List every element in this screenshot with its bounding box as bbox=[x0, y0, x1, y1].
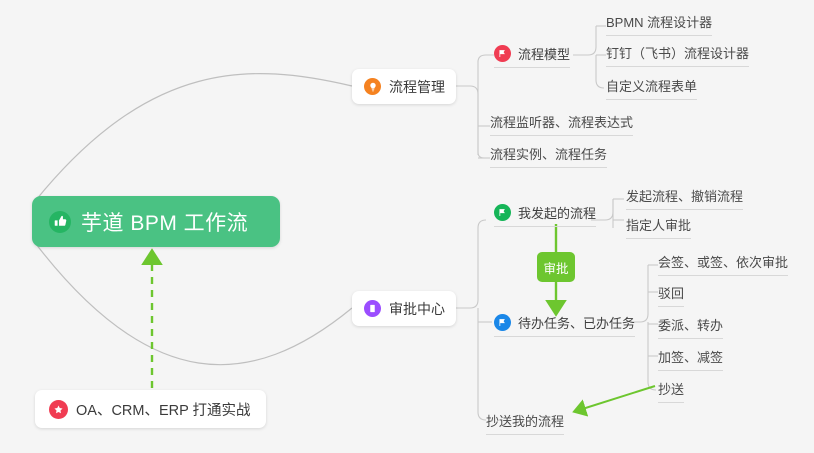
leaf-custom-form[interactable]: 自定义流程表单 bbox=[606, 76, 697, 100]
leaf-instance-task[interactable]: 流程实例、流程任务 bbox=[490, 144, 607, 168]
star-icon bbox=[49, 400, 68, 419]
subhead-process-model[interactable]: 流程模型 bbox=[494, 44, 570, 68]
edge-approval-center-spine-up bbox=[456, 220, 486, 308]
flag-icon bbox=[494, 45, 511, 62]
leaf-designated-approver[interactable]: 指定人审批 bbox=[626, 215, 691, 239]
edge-process-management-spine bbox=[456, 86, 478, 155]
flag-icon bbox=[494, 314, 511, 331]
edge-approval-center-spine-down bbox=[478, 308, 486, 420]
subhead-label-process-model: 流程模型 bbox=[518, 44, 570, 63]
edge-todo-spine-down bbox=[648, 322, 656, 390]
leaf-countersign[interactable]: 会签、或签、依次审批 bbox=[658, 252, 788, 276]
leaf-listener-expression[interactable]: 流程监听器、流程表达式 bbox=[490, 112, 633, 136]
leaf-bpmn-designer[interactable]: BPMN 流程设计器 bbox=[606, 12, 712, 36]
leaf-dingtalk-designer[interactable]: 钉钉（飞书）流程设计器 bbox=[606, 43, 749, 67]
branch-label-approval-center: 审批中心 bbox=[389, 299, 445, 319]
footer-node-integration[interactable]: OA、CRM、ERP 打通实战 bbox=[35, 390, 266, 428]
subhead-label-todo-done-tasks: 待办任务、已办任务 bbox=[518, 313, 635, 332]
footer-node-label: OA、CRM、ERP 打通实战 bbox=[76, 399, 251, 420]
leaf-cc[interactable]: 抄送 bbox=[658, 379, 684, 403]
leaf-delegate[interactable]: 委派、转办 bbox=[658, 315, 723, 339]
approval-flow-badge[interactable]: 审批 bbox=[537, 252, 575, 282]
root-label: 芋道 BPM 工作流 bbox=[81, 207, 248, 237]
branch-node-process-management[interactable]: 流程管理 bbox=[352, 69, 456, 104]
branch-label-process-management: 流程管理 bbox=[389, 77, 445, 97]
leaf-reject[interactable]: 驳回 bbox=[658, 283, 684, 307]
edge-to-process-model bbox=[478, 55, 494, 62]
clipboard-icon bbox=[364, 300, 381, 317]
leaf-cc-to-me-process[interactable]: 抄送我的流程 bbox=[486, 411, 564, 435]
leaf-start-cancel-process[interactable]: 发起流程、撤销流程 bbox=[626, 186, 743, 210]
edge-spine-seg-b bbox=[478, 126, 484, 158]
thumbs-up-icon bbox=[49, 211, 71, 233]
leaf-add-remove-sign[interactable]: 加签、减签 bbox=[658, 347, 723, 371]
lightbulb-icon bbox=[364, 78, 381, 95]
mindmap-canvas: 芋道 BPM 工作流 流程管理 流程模型 BPMN 流程设计器 钉钉（飞书）流程… bbox=[0, 0, 814, 453]
subhead-my-initiated[interactable]: 我发起的流程 bbox=[494, 203, 596, 227]
edge-cc-to-my-cc bbox=[576, 386, 655, 411]
edge-root-to-process-management bbox=[36, 74, 352, 200]
approval-flow-badge-label: 审批 bbox=[543, 258, 568, 277]
edge-process-model-spine-down bbox=[596, 55, 604, 88]
subhead-label-my-initiated: 我发起的流程 bbox=[518, 203, 596, 222]
subhead-todo-done-tasks[interactable]: 待办任务、已办任务 bbox=[494, 313, 635, 337]
root-node[interactable]: 芋道 BPM 工作流 bbox=[32, 196, 280, 247]
branch-node-approval-center[interactable]: 审批中心 bbox=[352, 291, 456, 326]
edge-process-model-spine-up bbox=[573, 26, 596, 55]
flag-icon bbox=[494, 204, 511, 221]
edge-root-to-approval-center bbox=[36, 244, 352, 365]
